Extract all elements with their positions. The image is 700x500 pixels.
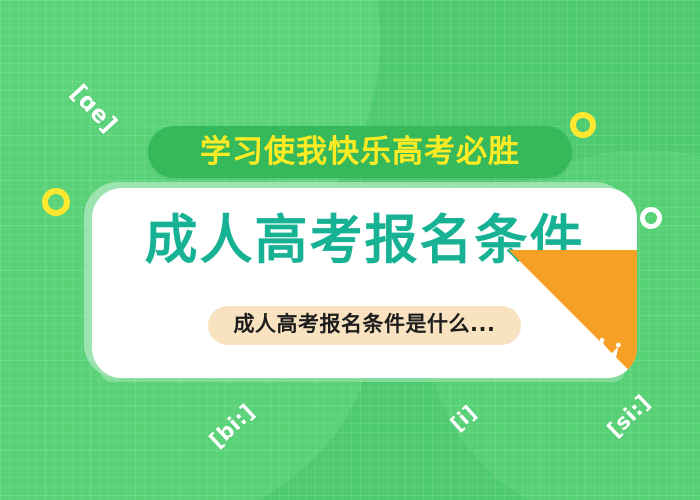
subtitle-pill: 成人高考报名条件是什么... xyxy=(208,306,522,345)
circle-outline-white-right xyxy=(640,207,662,229)
slogan-banner: 学习使我快乐高考必胜 xyxy=(148,126,572,178)
headline-card: 成人高考报名条件 成人高考报名条件是什么... xyxy=(92,188,637,378)
circle-outline-yellow-left xyxy=(42,188,70,216)
crown-icon xyxy=(583,338,621,366)
slogan-banner-text: 学习使我快乐高考必胜 xyxy=(200,137,520,168)
circle-outline-yellow-top xyxy=(570,112,596,138)
poster-canvas: [ɑe] [bi:] [i] [si:] 学习使我快乐高考必胜 成人高考报名条件… xyxy=(0,0,700,500)
